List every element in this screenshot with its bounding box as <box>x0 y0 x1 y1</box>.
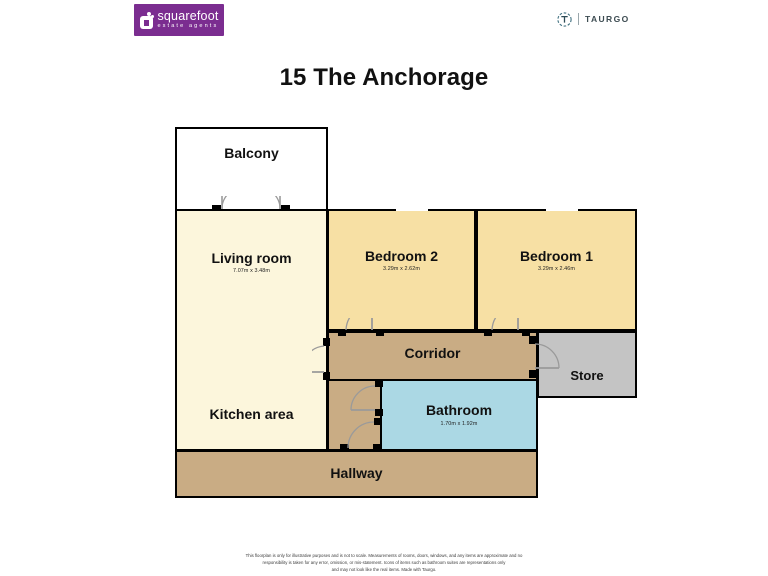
disclaimer-text: This floorplan is only for illustrative … <box>0 552 768 573</box>
window-bedroom-1 <box>546 208 578 211</box>
floorplan-canvas: Balcony Living room 7.07m x 3.48m Kitche… <box>0 0 768 576</box>
room-corridor: Corridor <box>327 331 538 381</box>
room-bedroom-1: Bedroom 1 3.29m x 2.46m <box>476 209 637 331</box>
door-corridor-hallway <box>340 418 382 452</box>
room-living-kitchen: Living room 7.07m x 3.48m Kitchen area <box>175 209 328 451</box>
disclaimer-line-2: responsibility is taken for any error, o… <box>0 559 768 566</box>
room-hallway: Hallway <box>175 450 538 498</box>
room-label-hallway: Hallway <box>177 466 536 481</box>
disclaimer-line-1: This floorplan is only for illustrative … <box>0 552 768 559</box>
room-dims-bedroom-1: 3.29m x 2.46m <box>478 266 635 272</box>
room-dims-bathroom: 1.70m x 1.92m <box>382 421 536 427</box>
door-bedroom-1 <box>484 318 530 334</box>
room-dims-living-room: 7.07m x 3.48m <box>177 268 326 274</box>
window-bedroom-2 <box>396 208 428 211</box>
room-label-bedroom-1: Bedroom 1 <box>478 249 635 264</box>
room-label-living-room: Living room <box>177 251 326 266</box>
room-bathroom: Bathroom 1.70m x 1.92m <box>380 379 538 451</box>
door-bathroom <box>345 380 383 416</box>
room-label-bedroom-2: Bedroom 2 <box>329 249 474 264</box>
door-store <box>529 336 547 378</box>
room-dims-bedroom-2: 3.29m x 2.62m <box>329 266 474 272</box>
room-label-balcony: Balcony <box>177 146 326 161</box>
door-bedroom-2 <box>338 318 384 334</box>
room-label-kitchen-area: Kitchen area <box>177 407 326 422</box>
room-label-corridor: Corridor <box>329 346 536 361</box>
room-bedroom-2: Bedroom 2 3.29m x 2.62m <box>327 209 476 331</box>
room-label-bathroom: Bathroom <box>382 403 536 418</box>
door-living-room <box>312 338 330 380</box>
disclaimer-line-3: and may not look like the real items. Ma… <box>0 566 768 573</box>
